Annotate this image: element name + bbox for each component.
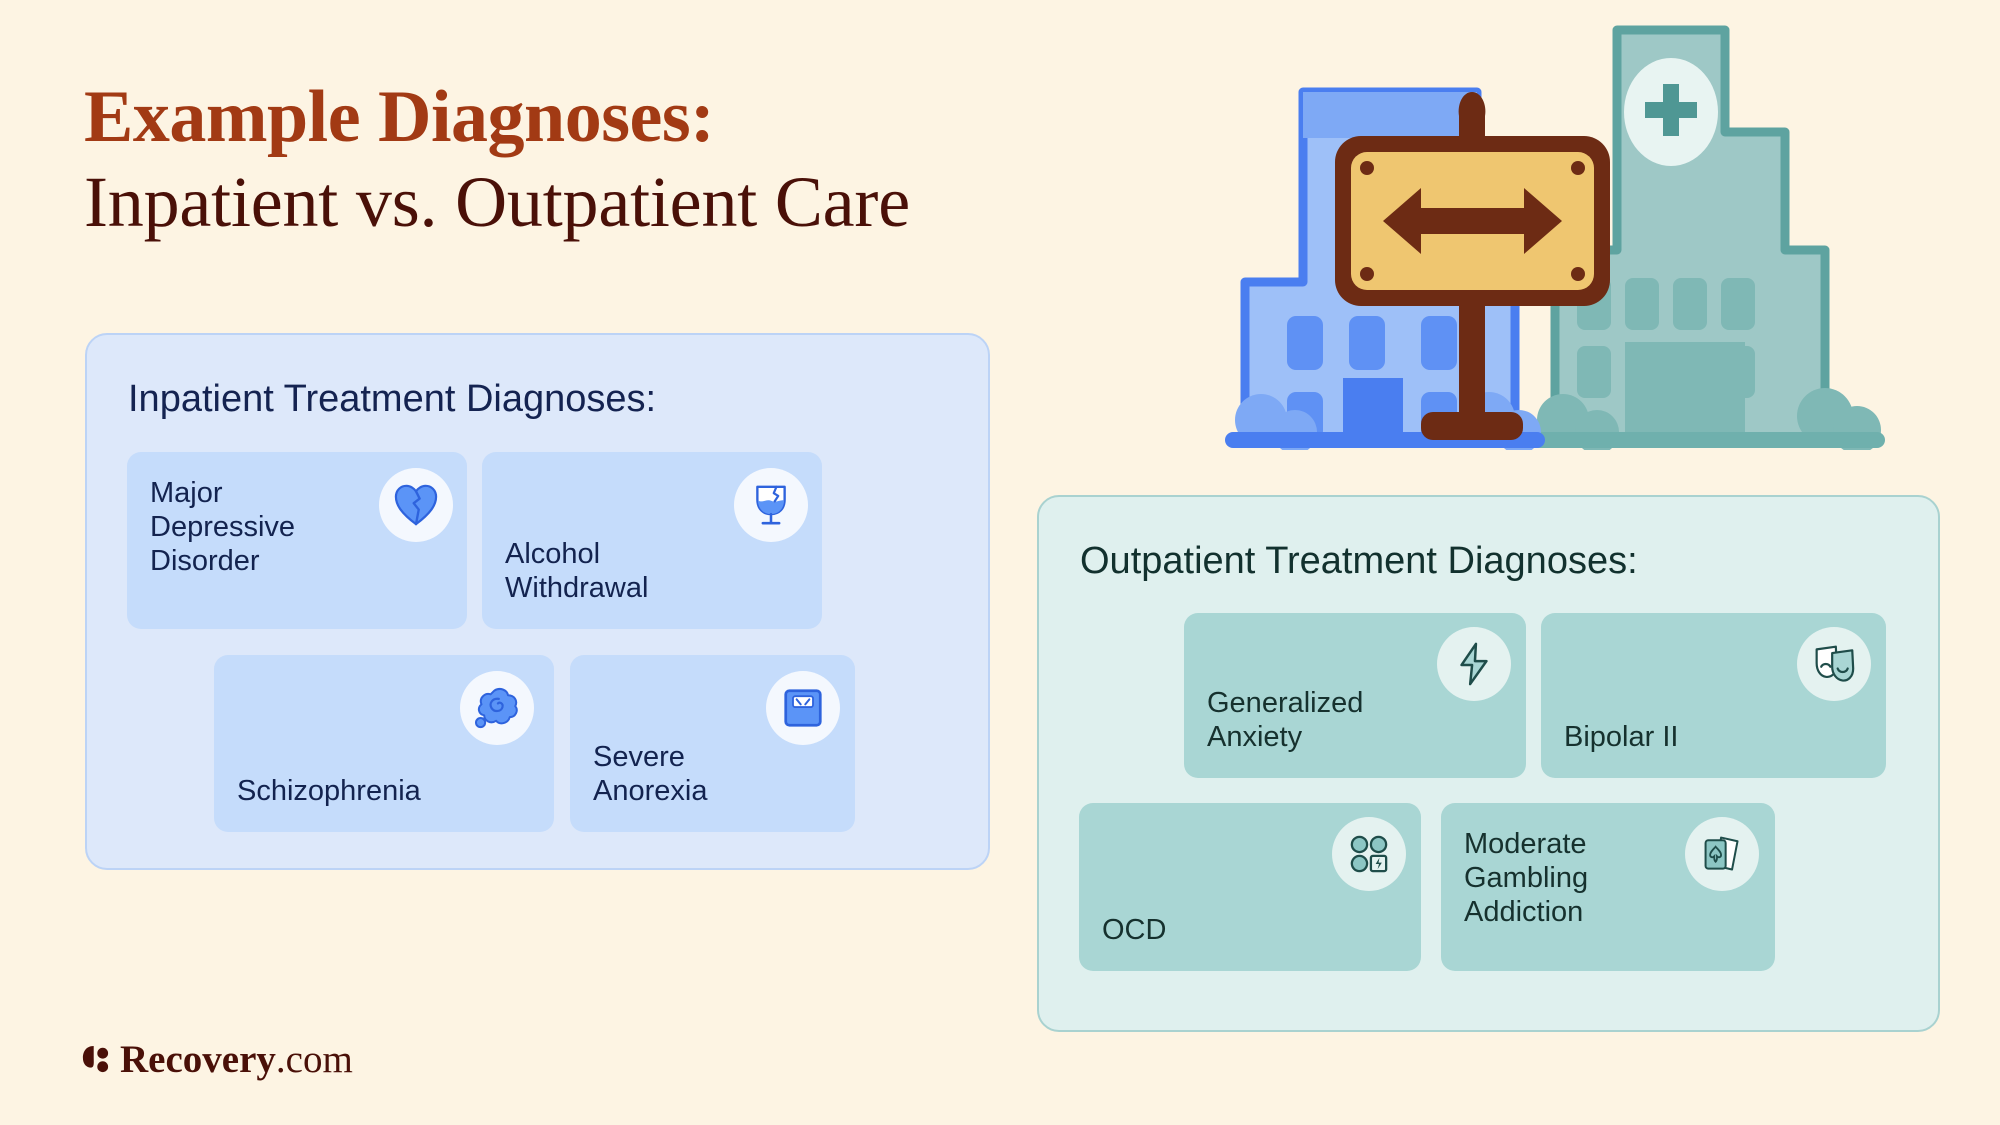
cracked-wine-glass-icon [734,468,808,542]
logo-suffix: .com [276,1038,353,1081]
recovery-logo[interactable]: Recovery.com [82,1040,353,1079]
card-label: OCD [1102,913,1166,947]
diagnosis-card-bipolar-ii[interactable]: Bipolar II [1541,613,1886,778]
thought-swirl-icon [460,671,534,745]
playing-cards-glyph [1701,833,1743,875]
diagnosis-card-alcohol-withdrawal[interactable]: Alcohol Withdrawal [482,452,822,629]
diagnosis-card-generalized-anxiety[interactable]: Generalized Anxiety [1184,613,1526,778]
card-label: Major Depressive Disorder [150,476,295,579]
diagnosis-card-major-depressive-disorder[interactable]: Major Depressive Disorder [127,452,467,629]
page-title: Example Diagnoses: Inpatient vs. Outpati… [84,78,1224,243]
broken-heart-glyph [394,484,438,526]
cracked-wine-glass-glyph [751,483,791,527]
illustration-svg [1225,20,1955,450]
theater-masks-glyph [1811,643,1857,685]
logo-text: Recovery.com [120,1040,353,1079]
diagnosis-card-severe-anorexia[interactable]: Severe Anorexia [570,655,855,832]
pattern-grid-icon [1332,817,1406,891]
playing-cards-icon [1685,817,1759,891]
recovery-leaf-mark-icon [82,1044,109,1075]
hospital-buildings-illustration [1225,20,1955,450]
card-label: Schizophrenia [237,774,421,808]
card-label: Alcohol Withdrawal [505,537,648,605]
outpatient-panel: Outpatient Treatment Diagnoses: Generali… [1037,495,1940,1032]
thought-swirl-glyph [474,687,520,729]
bathroom-scale-glyph [783,688,823,728]
theater-masks-icon [1797,627,1871,701]
pattern-grid-glyph [1349,834,1389,874]
lightning-bolt-icon [1437,627,1511,701]
outpatient-heading: Outpatient Treatment Diagnoses: [1080,542,1638,580]
card-label: Severe Anorexia [593,740,707,808]
inpatient-panel: Inpatient Treatment Diagnoses: Major Dep… [85,333,990,870]
lightning-bolt-glyph [1457,642,1491,686]
broken-heart-icon [379,468,453,542]
card-label: Moderate Gambling Addiction [1464,827,1588,930]
diagnosis-card-ocd[interactable]: OCD [1079,803,1421,971]
diagnosis-card-schizophrenia[interactable]: Schizophrenia [214,655,554,832]
inpatient-heading: Inpatient Treatment Diagnoses: [128,380,656,418]
bathroom-scale-icon [766,671,840,745]
logo-name: Recovery [120,1038,276,1081]
card-label: Bipolar II [1564,720,1678,754]
page-title-line1: Example Diagnoses: [84,78,1224,156]
card-label: Generalized Anxiety [1207,686,1363,754]
page-title-line2: Inpatient vs. Outpatient Care [84,162,1224,243]
diagnosis-card-moderate-gambling-addiction[interactable]: Moderate Gambling Addiction [1441,803,1775,971]
